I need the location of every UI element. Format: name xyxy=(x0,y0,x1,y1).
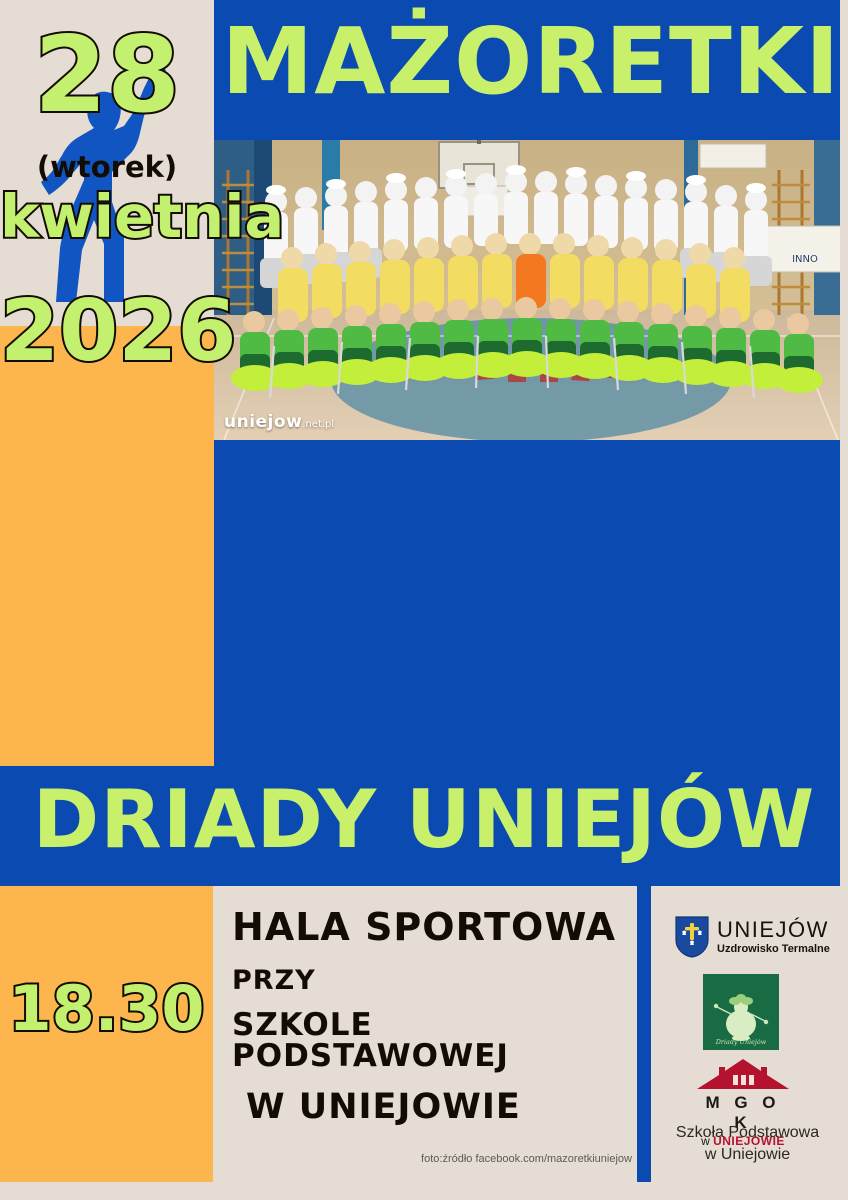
driady-logo: Driady Uniejów xyxy=(703,974,779,1050)
logo-column: UNIEJÓW Uzdrowisko Termalne xyxy=(655,900,840,1190)
photo-illustration: INNO xyxy=(214,140,848,440)
event-banner-label: DRIADY UNIEJÓW xyxy=(0,778,848,862)
uniejow-logo: UNIEJÓW Uzdrowisko Termalne xyxy=(675,916,830,958)
driady-logo-caption: Driady Uniejów xyxy=(715,1038,767,1046)
date-day: 28 xyxy=(0,14,214,136)
school-label: Szkoła Podstawowa w Uniejowie xyxy=(655,1122,840,1165)
uniejow-logo-name: UNIEJÓW xyxy=(717,919,830,941)
venue-line-4: W UNIEJOWIE xyxy=(232,1090,632,1125)
photo-watermark: uniejow.net.pl xyxy=(224,412,334,432)
uniejow-logo-text: UNIEJÓW Uzdrowisko Termalne xyxy=(717,919,830,955)
event-time: 18.30 xyxy=(0,972,213,1045)
date-column: 28 (wtorek) kwietnia 2026 xyxy=(0,0,214,440)
date-year: 2026 xyxy=(0,282,214,381)
dryad-figure-icon: Driady Uniejów xyxy=(703,974,779,1050)
watermark-main: uniejow xyxy=(224,412,302,432)
poster-root: MIĘDZYNARODOWY DZIEŃ TAŃCA MAŻORETKI xyxy=(0,0,848,1200)
date-month: kwietnia xyxy=(0,182,214,251)
venue-block: HALA SPORTOWA PRZY SZKOLE PODSTAWOWEJ W … xyxy=(232,908,632,1125)
mgok-house-icon xyxy=(697,1058,789,1092)
svg-text:INNO: INNO xyxy=(792,254,818,265)
date-weekday: (wtorek) xyxy=(0,150,214,184)
majorettes-photo: INNO xyxy=(214,140,848,440)
venue-line-3: SZKOLE PODSTAWOWEJ xyxy=(232,1010,632,1072)
uniejow-logo-subtitle: Uzdrowisko Termalne xyxy=(717,944,830,955)
vertical-divider xyxy=(637,886,651,1182)
venue-line-2: PRZY xyxy=(232,967,632,994)
photo-credit: foto:źródło facebook.com/mazoretkiuniejo… xyxy=(232,1153,632,1165)
performer-banner-label: MAŻORETKI xyxy=(214,14,848,111)
venue-line-1: HALA SPORTOWA xyxy=(232,908,632,946)
right-edge-border xyxy=(840,0,848,1200)
uniejow-crest-icon xyxy=(675,916,709,958)
watermark-suffix: .net.pl xyxy=(302,419,334,430)
